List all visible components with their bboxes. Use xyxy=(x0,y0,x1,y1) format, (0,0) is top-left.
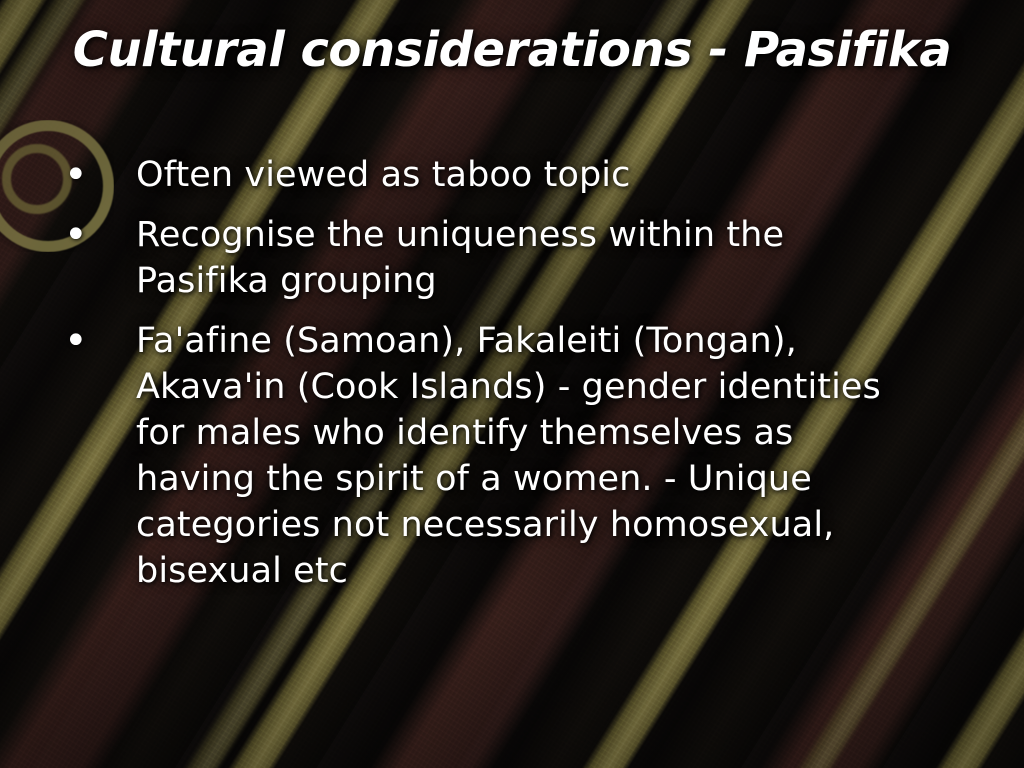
presentation-slide: Cultural considerations - Pasifika • Oft… xyxy=(0,0,1024,768)
list-item: • Often viewed as taboo topic xyxy=(56,152,904,198)
list-item-text: Recognise the uniqueness within the Pasi… xyxy=(136,212,904,304)
bullet-point-icon: • xyxy=(56,152,136,198)
slide-title: Cultural considerations - Pasifika xyxy=(0,22,1024,78)
list-item: • Fa'afine (Samoan), Fakaleiti (Tongan),… xyxy=(56,318,904,594)
list-item-text: Often viewed as taboo topic xyxy=(136,152,904,198)
bullet-list: • Often viewed as taboo topic • Recognis… xyxy=(56,152,904,608)
list-item-text: Fa'afine (Samoan), Fakaleiti (Tongan), A… xyxy=(136,318,904,594)
slide-content: Cultural considerations - Pasifika • Oft… xyxy=(0,0,1024,768)
list-item: • Recognise the uniqueness within the Pa… xyxy=(56,212,904,304)
bullet-point-icon: • xyxy=(56,318,136,364)
bullet-point-icon: • xyxy=(56,212,136,258)
